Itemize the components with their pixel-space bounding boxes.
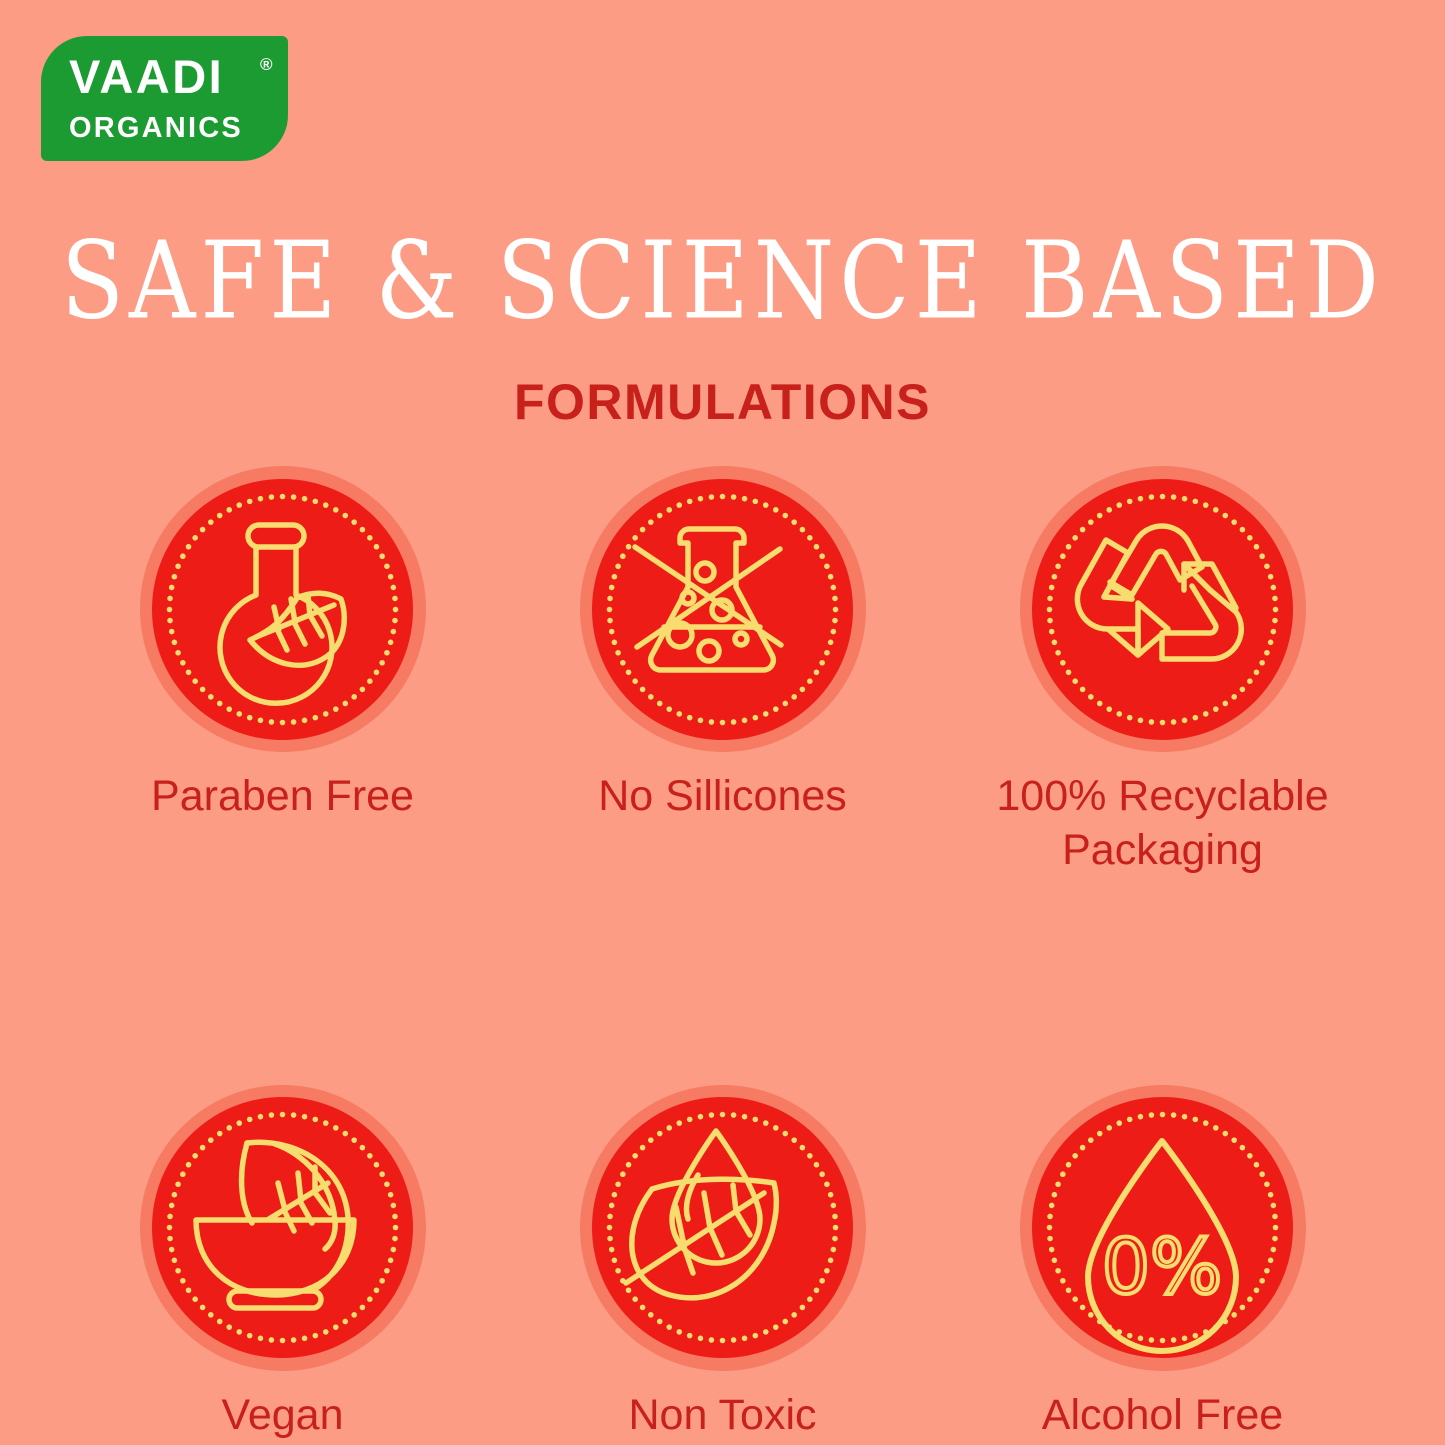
flask-crossed-out-icon bbox=[592, 479, 853, 740]
badge-label: Vegan bbox=[222, 1389, 344, 1443]
badge-label: Alcohol Free bbox=[1042, 1389, 1283, 1443]
zero-percent-text: 0% bbox=[1102, 1222, 1223, 1311]
badge-label: Non Toxic bbox=[628, 1389, 816, 1443]
badge-item-alcohol-free: 0% Alcohol Free bbox=[943, 1085, 1383, 1443]
droplet-zero-percent-icon: 0% bbox=[1032, 1097, 1293, 1358]
page-title: SAFE & SCIENCE BASED bbox=[0, 228, 1445, 335]
badge-item-recyclable-packaging: 100% Recyclable Packaging bbox=[943, 466, 1383, 878]
badge-label: Paraben Free bbox=[151, 770, 414, 824]
badge-circle bbox=[140, 466, 426, 752]
logo-subtitle: ORGANICS bbox=[69, 114, 243, 143]
registered-trademark-icon: ® bbox=[260, 56, 273, 73]
page-subtitle: FORMULATIONS bbox=[0, 377, 1445, 427]
bowl-leaf-icon bbox=[152, 1097, 413, 1358]
benefits-row-top: Paraben Free bbox=[0, 466, 1445, 878]
badge-circle bbox=[580, 466, 866, 752]
benefits-grid: Paraben Free bbox=[0, 466, 1445, 1442]
benefits-row-bottom: Vegan bbox=[0, 1085, 1445, 1443]
badge-item-vegan: Vegan bbox=[63, 1085, 503, 1443]
badge-circle bbox=[1020, 466, 1306, 752]
brand-logo: VAADI ® ORGANICS bbox=[41, 36, 288, 161]
badge-circle bbox=[580, 1085, 866, 1371]
badge-label: 100% Recyclable Packaging bbox=[996, 770, 1328, 878]
flask-leaf-icon bbox=[152, 479, 413, 740]
badge-circle: 0% bbox=[1020, 1085, 1306, 1371]
badge-circle bbox=[140, 1085, 426, 1371]
recycle-icon bbox=[1032, 479, 1293, 740]
badge-item-no-sillicones: No Sillicones bbox=[503, 466, 943, 824]
logo-wordmark: VAADI bbox=[69, 53, 224, 100]
badge-label: No Sillicones bbox=[598, 770, 847, 824]
droplet-leaf-icon bbox=[592, 1097, 853, 1358]
badge-item-paraben-free: Paraben Free bbox=[63, 466, 503, 824]
badge-item-non-toxic: Non Toxic bbox=[503, 1085, 943, 1443]
